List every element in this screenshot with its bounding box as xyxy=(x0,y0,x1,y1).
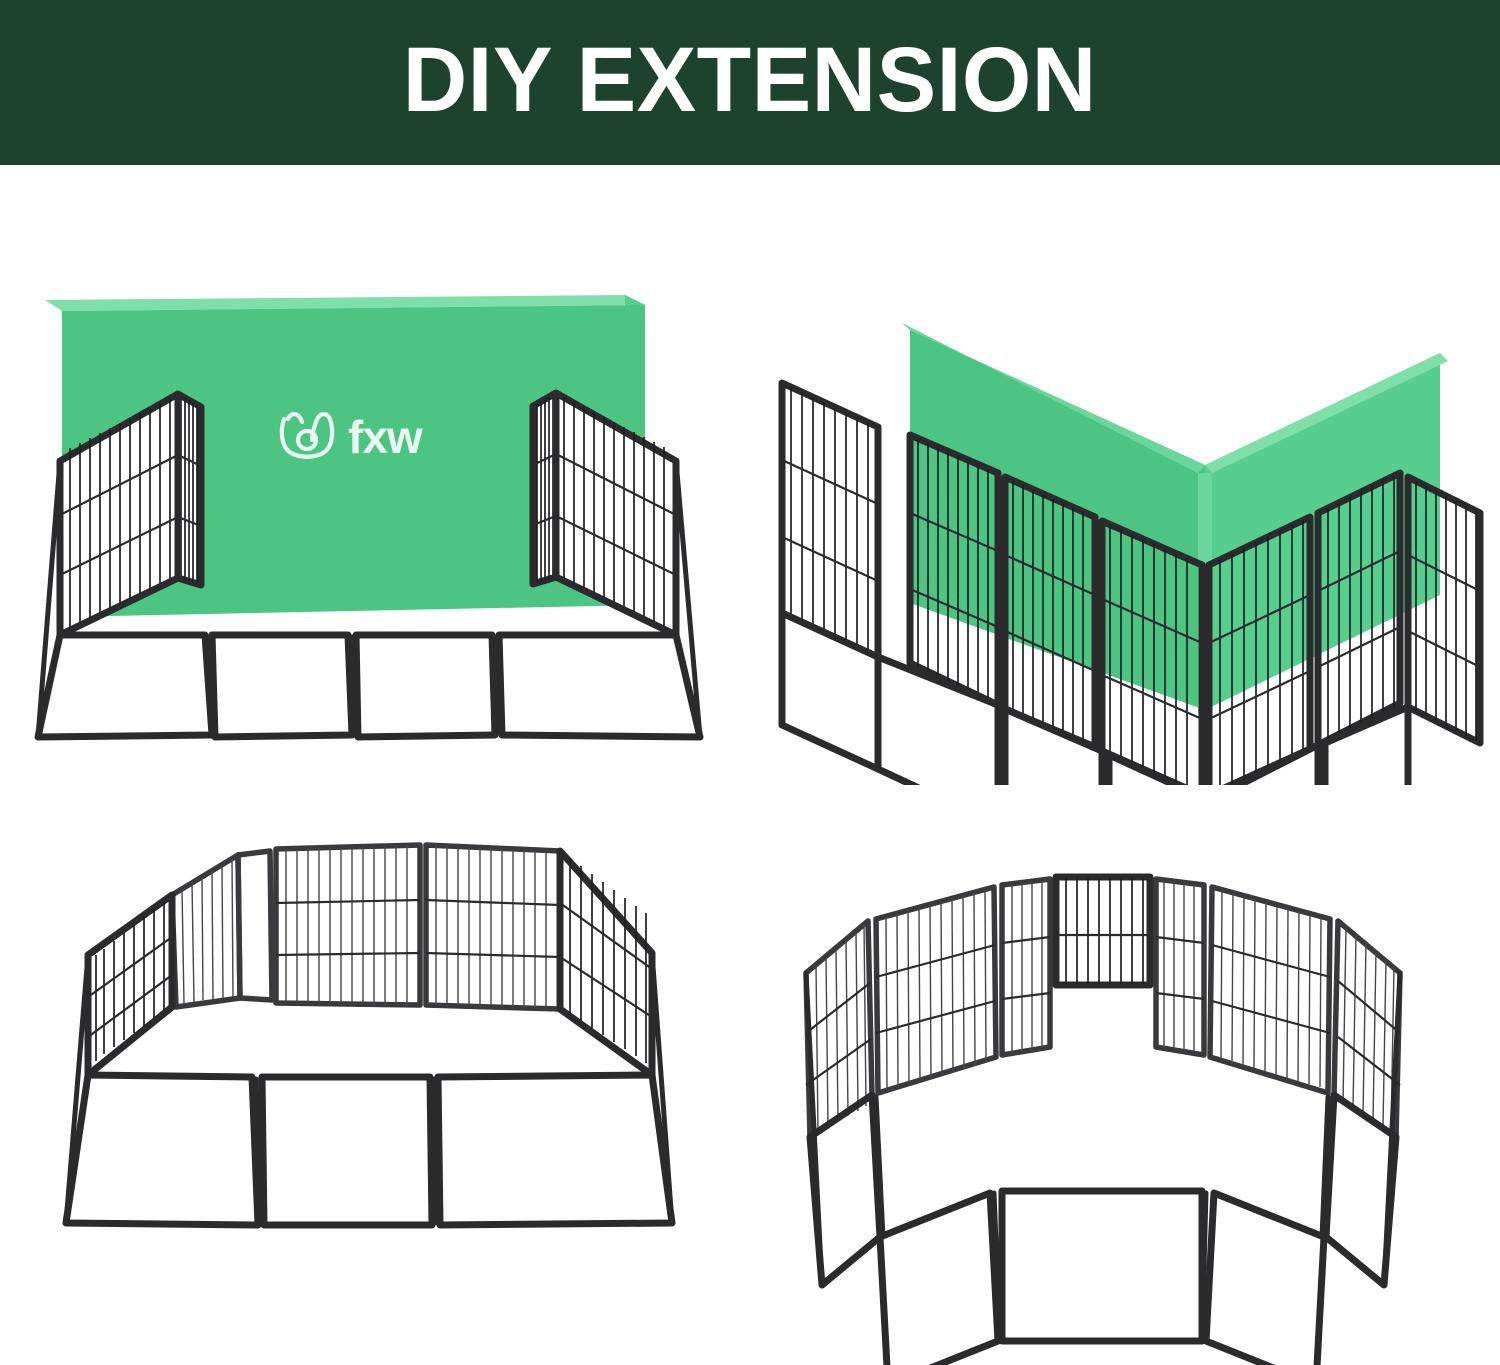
fence-panel xyxy=(499,635,700,737)
illustration-straight-wall-extension: fxw xyxy=(0,165,750,785)
fence-front-arc xyxy=(810,1095,1396,1365)
fence-panel xyxy=(880,1193,998,1365)
fence-panel xyxy=(1156,879,1204,1055)
illustration-corner-wall-extension xyxy=(750,165,1500,785)
fence-panel xyxy=(426,845,560,1009)
fence-front-row xyxy=(38,635,700,737)
page-title: DIY EXTENSION xyxy=(403,34,1097,132)
fence-panel xyxy=(1002,1191,1202,1341)
fence-panel xyxy=(88,895,172,1075)
fence-panel xyxy=(876,887,996,1093)
fence-panel xyxy=(66,1075,258,1225)
header-banner: DIY EXTENSION xyxy=(0,0,1500,165)
fence-panel xyxy=(1109,755,1205,785)
fence-front-row xyxy=(66,1075,672,1225)
fence-panel xyxy=(276,845,420,1005)
fence-panel xyxy=(1002,879,1050,1055)
fence-panel xyxy=(356,635,495,737)
illustration-rectangular-playpen xyxy=(0,785,750,1365)
fence-panel xyxy=(1210,887,1330,1093)
green-corner-wall xyxy=(902,323,1448,713)
fence-panel xyxy=(212,635,352,737)
fence-panel xyxy=(782,383,878,769)
illustration-octagonal-playpen xyxy=(750,785,1500,1365)
fence-left-side xyxy=(88,895,172,1075)
fence-panel xyxy=(38,635,212,737)
illustration-gallery: fxw xyxy=(0,165,1500,1365)
fence-panel xyxy=(262,1077,432,1225)
fence-panel xyxy=(1206,1193,1324,1365)
fence-left-outer xyxy=(782,383,878,769)
fence-panel xyxy=(1212,745,1318,785)
fence-back-arc xyxy=(806,877,1400,1137)
fence-corner-legs xyxy=(806,973,1400,1285)
fence-back-row xyxy=(172,845,560,1009)
fence-gate-panel xyxy=(1056,877,1150,985)
fence-gate-panel xyxy=(172,851,272,1007)
fence-panel xyxy=(438,1075,672,1225)
brand-wordmark: fxw xyxy=(348,411,423,463)
